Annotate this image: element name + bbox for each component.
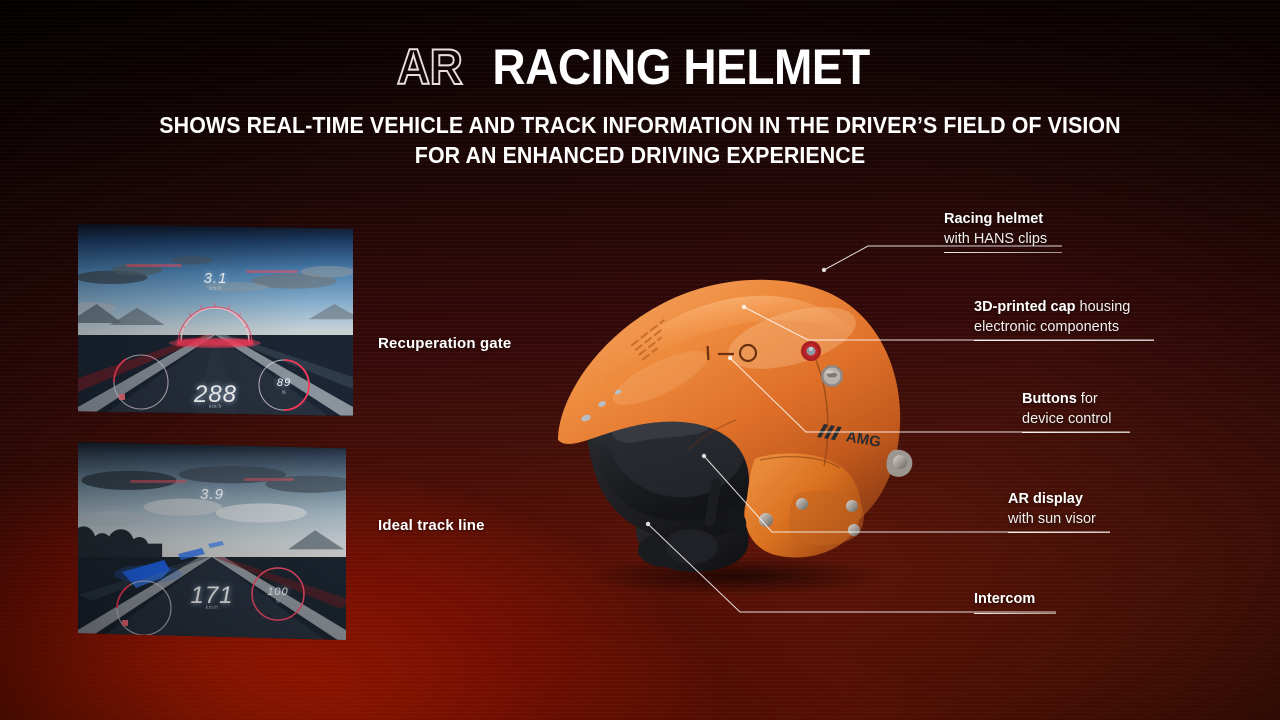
callout-racing-helmet[interactable]: Racing helmet with HANS clips [944, 210, 1062, 253]
subtitle-line-1: SHOWS REAL-TIME VEHICLE AND TRACK INFORM… [45, 110, 1235, 140]
helmet-shadow [586, 556, 886, 596]
callout-underline [974, 613, 1056, 614]
hud-top-unit: km/h [78, 286, 353, 292]
callout-line-2: with HANS clips [944, 230, 1062, 250]
callout-intercom[interactable]: Intercom [974, 590, 1056, 614]
callout-bold: Buttons [1022, 391, 1077, 407]
header: ARRACING HELMET SHOWS REAL-TIME VEHICLE … [0, 40, 1280, 170]
hud-top-value: 3.1 [78, 270, 353, 287]
hans-clip-rivet [759, 513, 773, 527]
callout-ar-display[interactable]: AR display with sun visor [1008, 490, 1110, 533]
callout-bold: 3D-printed cap [974, 299, 1076, 315]
label-recuperation-gate: Recuperation gate [378, 335, 511, 352]
callout-bold: Racing helmet [944, 211, 1043, 227]
infographic-canvas: ARRACING HELMET SHOWS REAL-TIME VEHICLE … [0, 0, 1280, 720]
hud-gauge-value: 100 [258, 586, 298, 598]
callout-line-2: electronic components [974, 318, 1154, 338]
subtitle-line-2: FOR AN ENHANCED DRIVING EXPERIENCE [45, 140, 1235, 170]
callout-line-1: Intercom [974, 590, 1056, 610]
ideal-track-line-screen[interactable]: 3.9 171 km/h 100 % [78, 442, 346, 640]
page-subtitle: SHOWS REAL-TIME VEHICLE AND TRACK INFORM… [0, 110, 1280, 170]
label-ideal-track-line: Ideal track line [378, 517, 485, 534]
hud-gauge-unit: % [258, 599, 298, 605]
callout-underline [1008, 532, 1110, 533]
title-prefix: AR [397, 40, 463, 94]
callout-line-1: Buttons for [1022, 390, 1130, 410]
page-title: ARRACING HELMET [0, 40, 1280, 94]
callout-underline [974, 340, 1154, 341]
hud-gauge-value: 89 [264, 377, 304, 389]
racing-helmet-image: AMG [540, 228, 920, 598]
callout-buttons[interactable]: Buttons for device control [1022, 390, 1130, 433]
callout-rest: housing [1076, 299, 1131, 315]
callout-bold: AR display [1008, 491, 1083, 507]
callout-line-2: device control [1022, 410, 1130, 430]
recuperation-gate-screen[interactable]: 3.1 km/h 288 km/h 89 % [78, 224, 353, 416]
callout-underline [1022, 432, 1130, 433]
title-main: RACING HELMET [492, 40, 869, 94]
callout-line-2: with sun visor [1008, 510, 1110, 530]
callout-3d-printed-cap[interactable]: 3D-printed cap housing electronic compon… [974, 298, 1154, 341]
callout-line-1: 3D-printed cap housing [974, 298, 1154, 318]
callout-rest: for [1077, 391, 1098, 407]
hud-speed-unit: km/h [78, 605, 346, 611]
hud-top-value: 3.9 [78, 486, 346, 503]
callout-line-1: Racing helmet [944, 210, 1062, 230]
callout-bold: Intercom [974, 591, 1035, 607]
hud-gauge-unit: % [264, 390, 304, 396]
callout-underline [944, 252, 1062, 253]
callout-line-1: AR display [1008, 490, 1110, 510]
hud-speed-unit: km/h [78, 404, 353, 410]
